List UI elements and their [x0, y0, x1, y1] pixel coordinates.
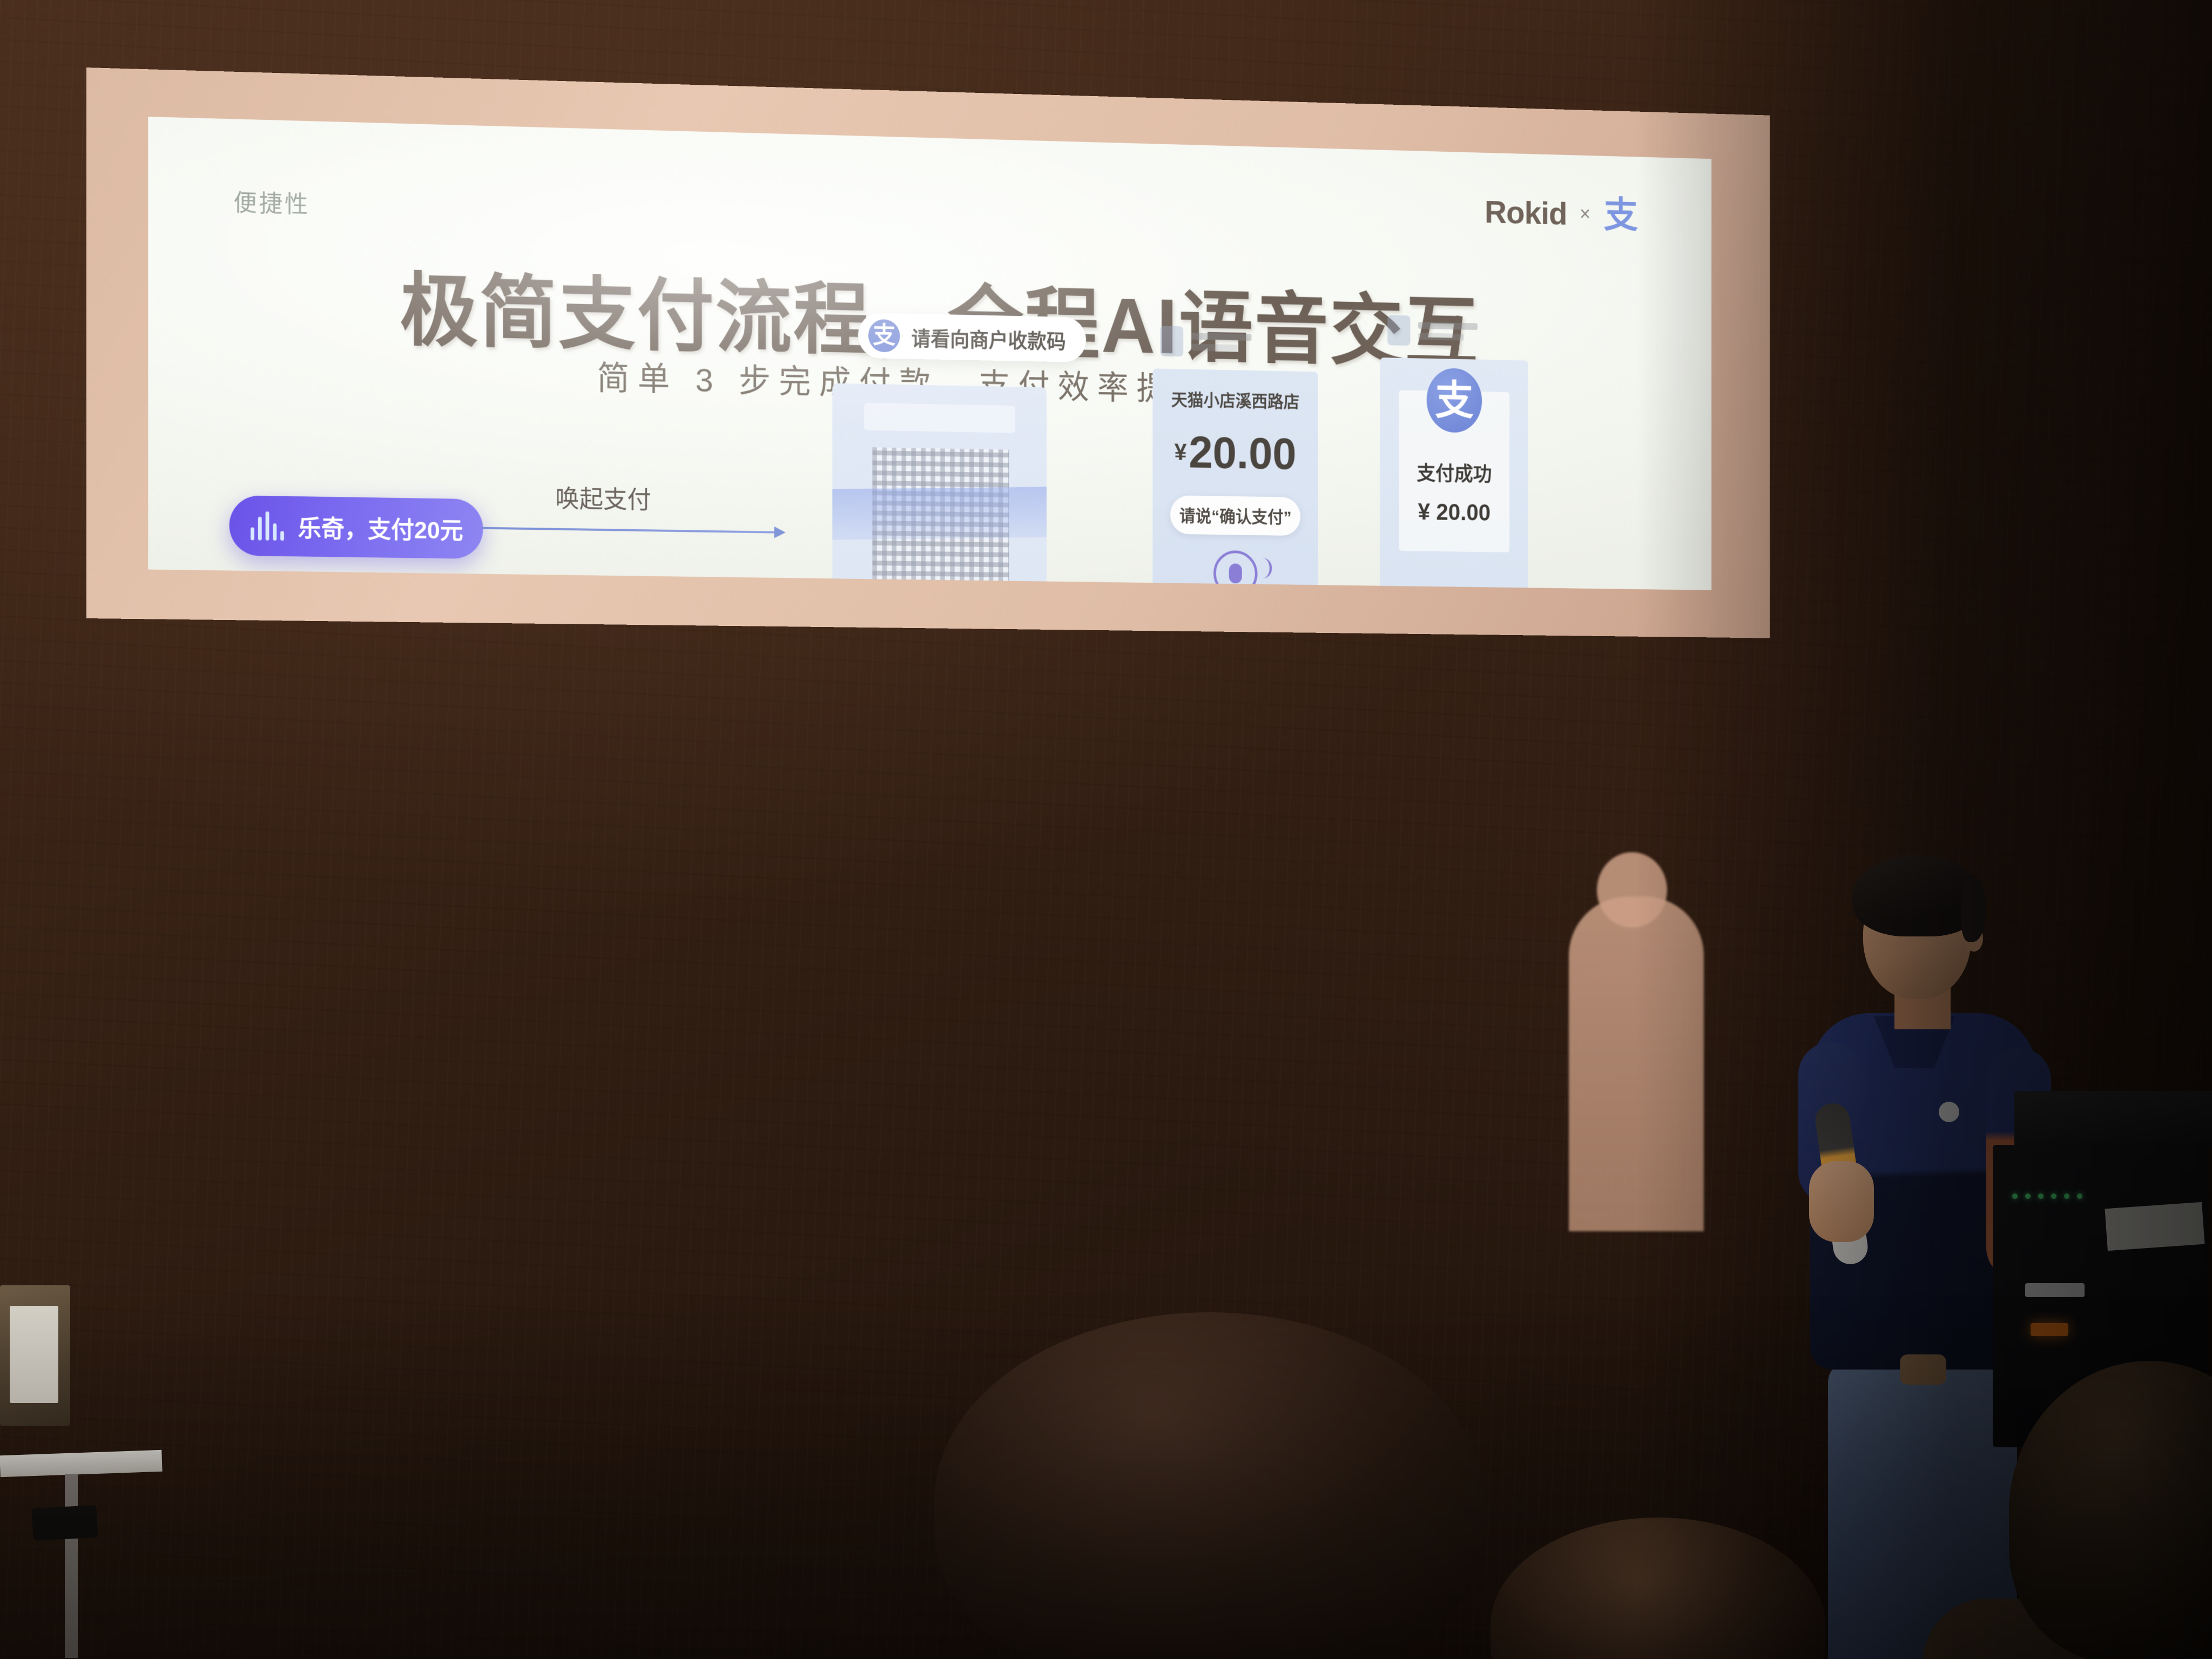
payment-success-card: 支 支付成功 ¥ 20.00: [1380, 358, 1528, 590]
app-icon: [1387, 315, 1410, 346]
brand-lockup: Rokid × 支: [1485, 193, 1638, 234]
mic-wave-icon: [1255, 557, 1272, 578]
alipay-success-icon: 支: [1427, 368, 1482, 433]
scan-line-highlight: [832, 487, 1047, 540]
success-amount: ¥ 20.00: [1380, 498, 1528, 527]
slide-surface: 便捷性 Rokid × 支 极简支付流程，全程AI语音交互 简单 3 步完成付款…: [148, 117, 1711, 590]
success-status-text: 支付成功: [1380, 456, 1528, 487]
projection-screen: 便捷性 Rokid × 支 极简支付流程，全程AI语音交互 简单 3 步完成付款…: [86, 68, 1770, 638]
flow-arrow-label: 唤起支付: [555, 479, 651, 516]
merchant-name: 天猫小店溪西路店: [1152, 386, 1318, 413]
scan-card-header: [864, 403, 1015, 433]
rokid-logo: Rokid: [1485, 193, 1567, 232]
alipay-logo-icon: 支: [1603, 196, 1638, 234]
success-card-app-header: [1387, 315, 1478, 347]
voice-command-text: 乐奇，支付20元: [298, 509, 463, 546]
app-title-placeholder: [1418, 322, 1478, 341]
alipay-badge-icon: 支: [868, 319, 900, 353]
flow-arrow-icon: [482, 527, 784, 534]
scan-hint-bubble: 支 请看向商户收款码: [858, 313, 1086, 362]
payment-amount: ¥20.00: [1152, 429, 1318, 477]
scan-hint-text: 请看向商户收款码: [911, 322, 1065, 354]
pay-card-app-header: [1160, 326, 1251, 358]
amount-value: 20.00: [1189, 427, 1296, 479]
voice-confirm-prompt: 请说“确认支付”: [1170, 495, 1300, 536]
photo-scene: 便捷性 Rokid × 支 极简支付流程，全程AI语音交互 简单 3 步完成付款…: [0, 0, 2212, 1659]
room-vignette-bottom: [0, 1294, 2212, 1659]
qr-scan-card: [832, 383, 1047, 590]
app-icon: [1160, 326, 1183, 356]
logo-separator-icon: ×: [1580, 203, 1590, 226]
confirm-payment-card: 天猫小店溪西路店 ¥20.00 请说“确认支付”: [1152, 368, 1318, 590]
currency-symbol: ¥: [1175, 440, 1187, 466]
slide-kicker: 便捷性: [233, 184, 310, 220]
voice-command-pill: 乐奇，支付20元: [230, 495, 483, 559]
app-title-placeholder: [1191, 333, 1251, 352]
voice-waveform-icon: [251, 511, 284, 541]
